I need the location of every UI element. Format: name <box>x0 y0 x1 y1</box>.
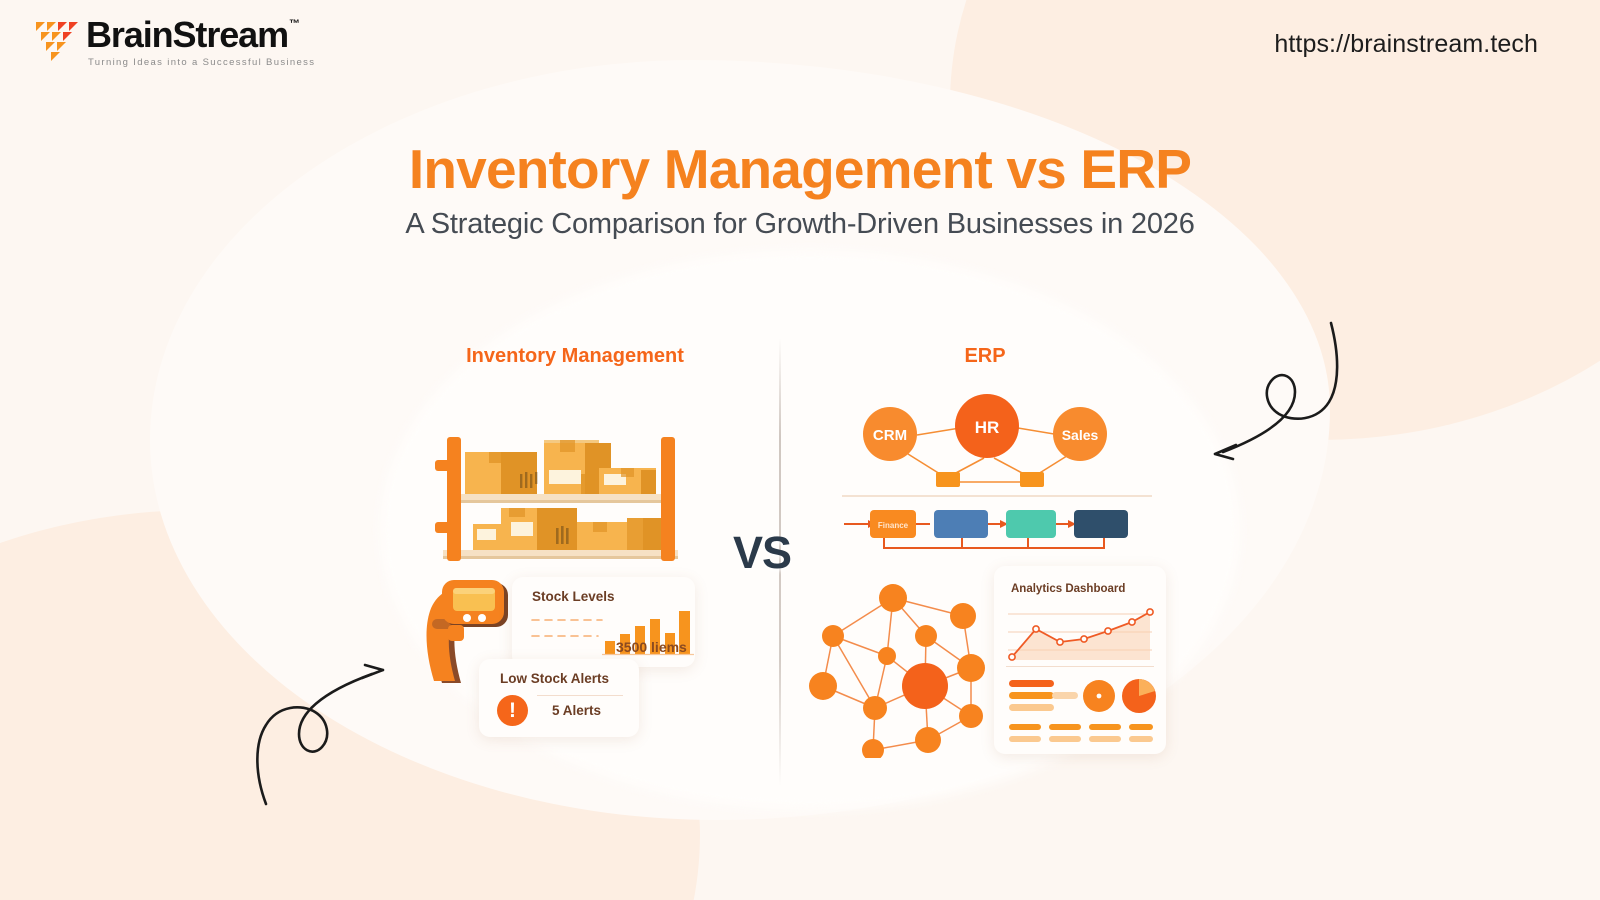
curly-arrow-left-pointing-icon <box>1183 306 1343 466</box>
dashboard-line-chart <box>994 602 1166 667</box>
erp-module-node-diagram: CRM HR Sales <box>842 388 1132 493</box>
dashboard-divider <box>1006 666 1154 667</box>
trademark-symbol: ™ <box>289 18 300 30</box>
brand-logo[interactable]: BrainStream ™ Turning Ideas into a Succe… <box>34 16 315 68</box>
node-label-sales: Sales <box>1062 427 1099 443</box>
brand-tagline: Turning Ideas into a Successful Business <box>88 57 315 68</box>
analytics-dashboard-card[interactable]: Analytics Dashboard <box>994 566 1166 754</box>
alerts-divider <box>537 695 623 696</box>
alerts-card-title: Low Stock Alerts <box>500 671 609 686</box>
column-label-erp: ERP <box>845 345 1125 368</box>
alerts-count-label: 5 Alerts <box>552 703 601 718</box>
stock-levels-card[interactable]: Stock Levels 3500 liems <box>512 577 695 667</box>
infographic-canvas: BrainStream ™ Turning Ideas into a Succe… <box>0 0 1600 900</box>
dashboard-footer-bars <box>994 718 1166 752</box>
page-title: Inventory Management vs ERP <box>0 137 1600 201</box>
dashboard-card-title: Analytics Dashboard <box>1011 583 1125 595</box>
node-label-crm: CRM <box>873 427 907 444</box>
column-label-inventory: Inventory Management <box>400 345 750 368</box>
erp-process-flow-diagram: Finance <box>822 486 1162 566</box>
site-url[interactable]: https://brainstream.tech <box>1274 30 1538 59</box>
triangle-grid-logo-icon <box>34 20 78 62</box>
network-graph-icon <box>795 568 995 758</box>
alert-exclamation-icon: ! <box>497 695 528 726</box>
low-stock-alerts-card[interactable]: Low Stock Alerts ! 5 Alerts <box>479 659 639 737</box>
curly-arrow-right-pointing-icon <box>252 641 402 806</box>
flow-box-label-finance: Finance <box>878 521 909 530</box>
stock-card-title: Stock Levels <box>532 589 615 604</box>
vs-badge: VS <box>733 527 791 579</box>
stock-total-label: 3500 liems <box>616 639 687 655</box>
brand-name: BrainStream <box>86 16 288 54</box>
warehouse-shelf-icon <box>425 412 695 562</box>
node-label-hr: HR <box>975 418 1000 437</box>
page-subtitle: A Strategic Comparison for Growth-Driven… <box>0 208 1600 241</box>
dashboard-kpi-row <box>994 672 1166 722</box>
